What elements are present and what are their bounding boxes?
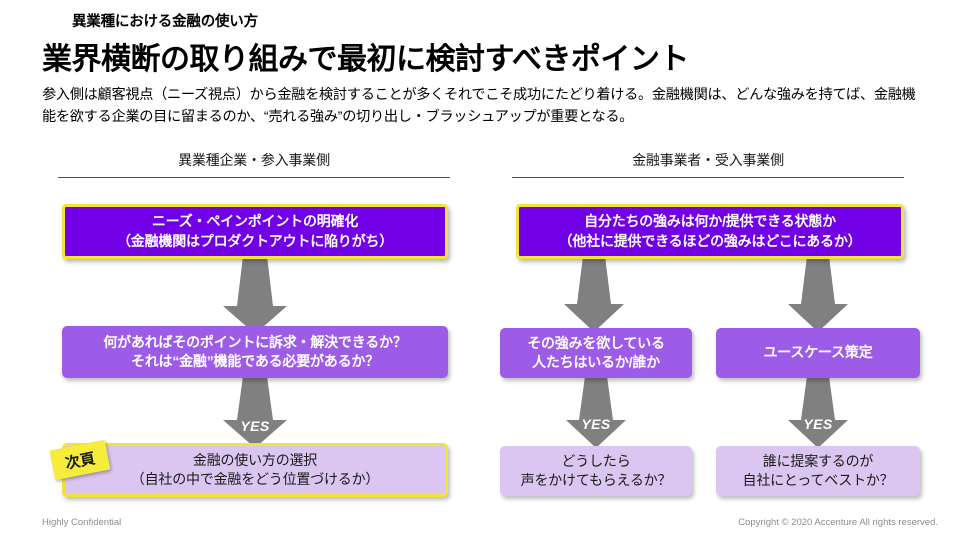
- right-flow-step-1-label: 自分たちの強みは何か/提供できる状態か （他社に提供できるほどの強みはどこにある…: [559, 212, 862, 251]
- next-page-sticky-label: 次頁: [63, 447, 96, 473]
- right-branch-a-arrow-1: [564, 256, 624, 332]
- right-branch-b-step-3-box[interactable]: 誰に提案するのが 自社にとってベストか？: [716, 446, 920, 496]
- column-header-right-label: 金融事業者・受入事業側: [512, 150, 904, 177]
- column-header-left: 異業種企業・参入事業側: [58, 150, 450, 178]
- right-flow-step-1-box[interactable]: 自分たちの強みは何か/提供できる状態か （他社に提供できるほどの強みはどこにある…: [516, 204, 904, 259]
- left-flow-step-2-label: 何があればそのポイントに訴求・解決できるか？ それは“金融”機能である必要がある…: [103, 333, 406, 372]
- right-branch-b-arrow-1: [788, 256, 848, 332]
- left-flow-step-3-label: 金融の使い方の選択 （自社の中で金融をどう位置づけるか）: [131, 451, 379, 490]
- footer-copyright-label: Copyright © 2020 Accenture All rights re…: [738, 517, 938, 528]
- column-header-right: 金融事業者・受入事業側: [512, 150, 904, 178]
- slide-eyebrow: 異業種における金融の使い方: [72, 10, 258, 31]
- left-flow-arrow-1: [223, 256, 287, 334]
- left-flow-step-1-box[interactable]: ニーズ・ペインポイントの明確化 （金融機関はプロダクトアウトに陥りがち）: [62, 204, 448, 259]
- right-branch-a-step-2-box[interactable]: その強みを欲している 人たちはいるか/誰か: [500, 328, 692, 378]
- right-branch-a-step-2-label: その強みを欲している 人たちはいるか/誰か: [527, 334, 665, 373]
- slide-title: 業界横断の取り組みで最初に検討すべきポイント: [42, 34, 689, 78]
- left-flow-arrow-2: YES: [223, 376, 287, 448]
- left-flow-step-2-box[interactable]: 何があればそのポイントに訴求・解決できるか？ それは“金融”機能である必要がある…: [62, 326, 448, 378]
- slide-lead-paragraph: 参入側は顧客視点（ニーズ視点）から金融を検討することが多くそれでこそ成功にたどり…: [42, 84, 927, 128]
- right-branch-b-arrow-2: YES: [788, 376, 848, 448]
- slide-canvas: 異業種における金融の使い方 業界横断の取り組みで最初に検討すべきポイント 参入側…: [0, 0, 960, 540]
- left-flow-step-3-box[interactable]: 金融の使い方の選択 （自社の中で金融をどう位置づけるか）: [62, 443, 448, 497]
- right-branch-b-step-2-box[interactable]: ユースケース策定: [716, 328, 920, 378]
- column-header-left-rule: [58, 177, 450, 178]
- column-header-right-rule: [512, 177, 904, 178]
- right-branch-b-step-2-label: ユースケース策定: [764, 343, 873, 362]
- right-branch-b-step-3-label: 誰に提案するのが 自社にとってベストか？: [743, 452, 894, 491]
- right-branch-a-step-3-box[interactable]: どうしたら 声をかけてもらえるか？: [500, 446, 692, 496]
- column-header-left-label: 異業種企業・参入事業側: [58, 150, 450, 177]
- left-flow-step-1-label: ニーズ・ペインポイントの明確化 （金融機関はプロダクトアウトに陥りがち）: [117, 212, 393, 251]
- right-branch-a-step-3-label: どうしたら 声をかけてもらえるか？: [521, 452, 672, 491]
- footer-confidentiality-label: Highly Confidential: [42, 517, 121, 528]
- right-branch-a-arrow-2: YES: [566, 376, 626, 448]
